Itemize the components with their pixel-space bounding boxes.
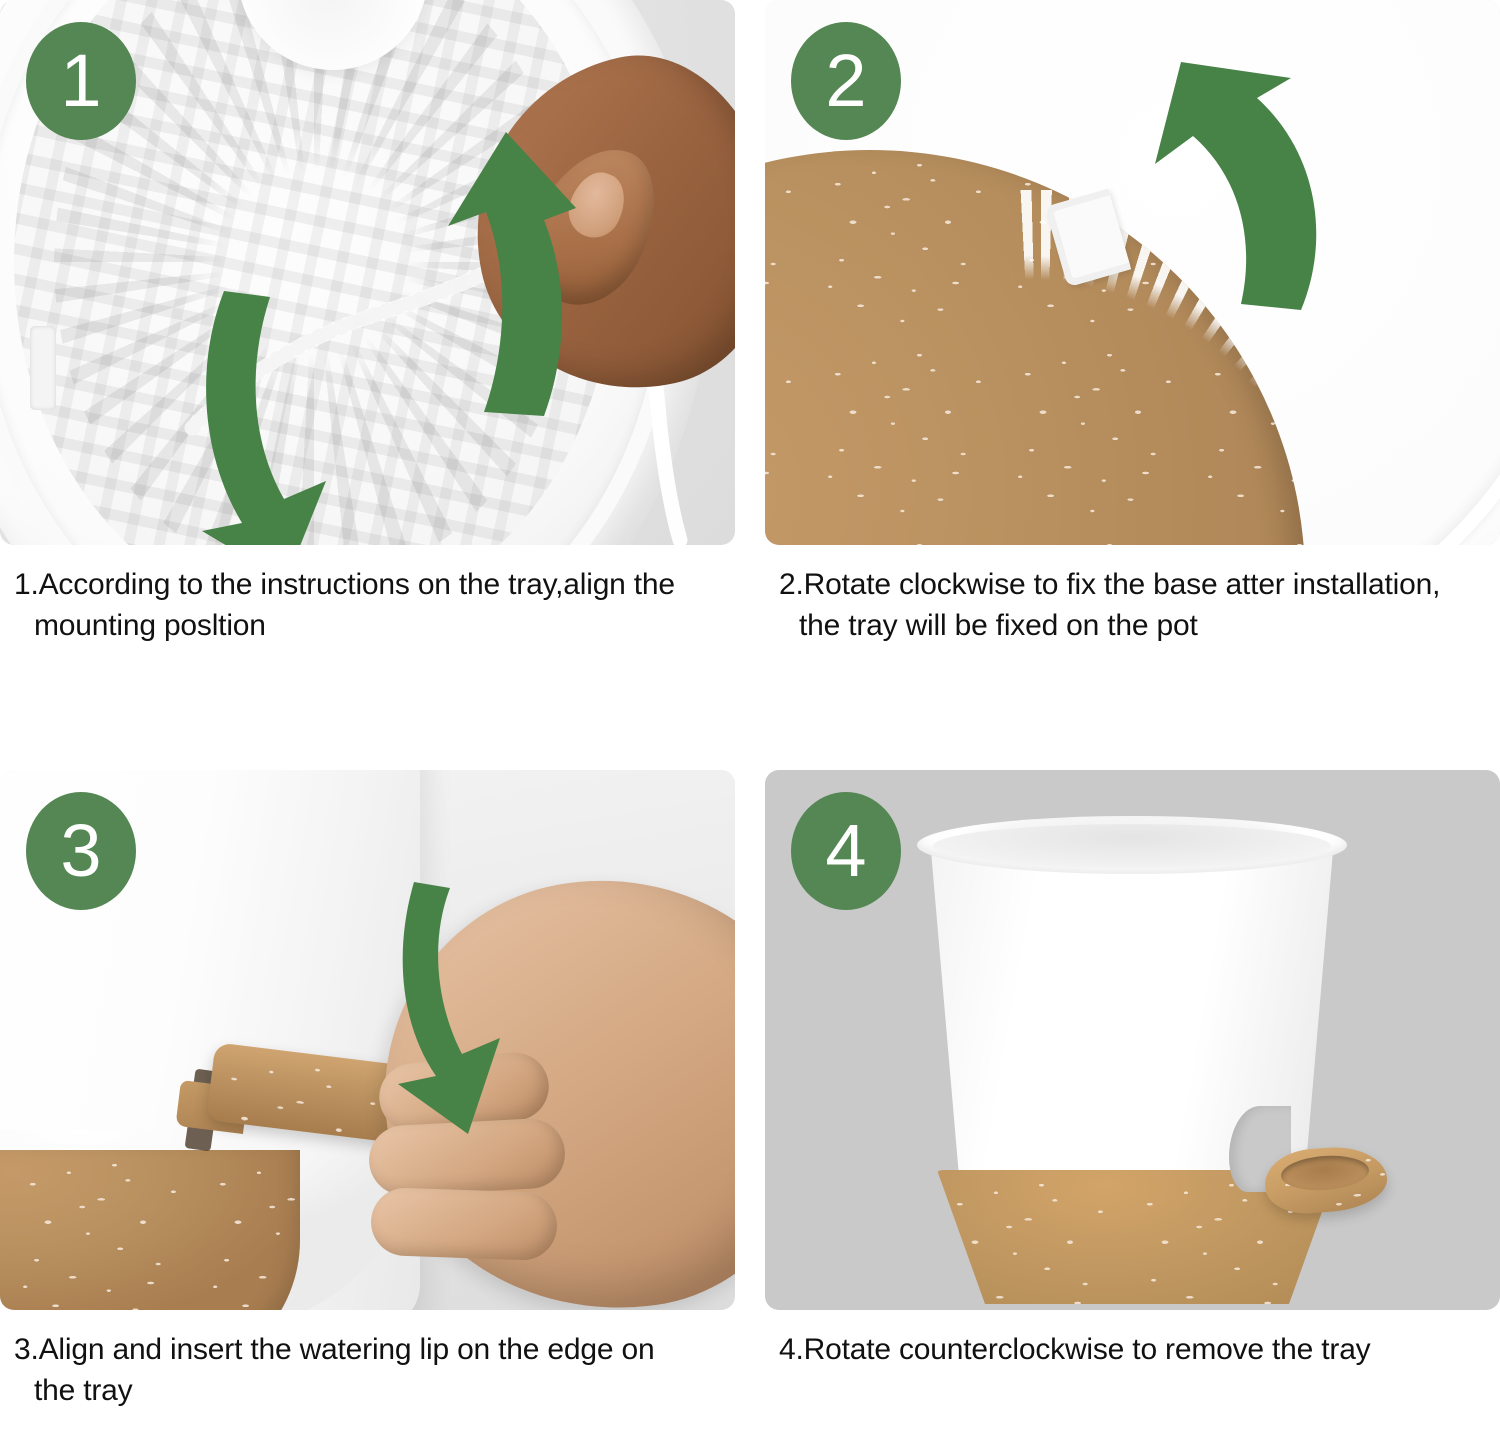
steps-grid: 1 1.According to the instructions on the… [0,0,1500,1441]
step-3-caption-line1: 3.Align and insert the watering lip on t… [14,1333,654,1366]
step-2-badge: 2 [791,22,901,140]
step-1-badge: 1 [26,22,136,140]
step-2-caption-line2: the tray will be fixed on the pot [779,606,1500,647]
tray-locking-tab [30,326,56,410]
step-3-caption: 3.Align and insert the watering lip on t… [14,1330,735,1411]
step-2-photo: 2 [765,0,1500,545]
middle-finger [367,1117,566,1197]
step-4: 4 4.Rotate counterclockwise to remove th… [765,770,1500,1441]
step-4-caption-line1: 4.Rotate counterclockwise to remove the … [779,1333,1370,1366]
pot-rim-inner [933,824,1331,868]
brown-tray [765,150,1305,545]
step-1-caption-line1: 1.According to the instructions on the t… [14,568,675,601]
step-2: 2 2.Rotate clockwise to fix the base att… [765,0,1500,770]
step-4-photo: 4 [765,770,1500,1310]
step-1-photo: 1 [0,0,735,545]
step-4-badge: 4 [791,792,901,910]
ring-finger [370,1187,558,1261]
step-4-caption: 4.Rotate counterclockwise to remove the … [779,1330,1500,1371]
instruction-sheet: 1 1.According to the instructions on the… [0,0,1500,1441]
step-1-caption-line2: mounting posltion [14,606,735,647]
step-2-caption-line1: 2.Rotate clockwise to fix the base atter… [779,568,1440,601]
step-1-caption: 1.According to the instructions on the t… [14,565,735,646]
tray-speckle-texture [0,1150,300,1310]
step-2-caption: 2.Rotate clockwise to fix the base atter… [779,565,1500,646]
step-3: 3 3.Align and insert the watering lip on… [0,770,735,1441]
step-3-photo: 3 [0,770,735,1310]
brown-tray-wall [0,1150,300,1310]
step-3-badge: 3 [26,792,136,910]
step-3-caption-line2: the tray [14,1371,735,1412]
step-1: 1 1.According to the instructions on the… [0,0,735,770]
